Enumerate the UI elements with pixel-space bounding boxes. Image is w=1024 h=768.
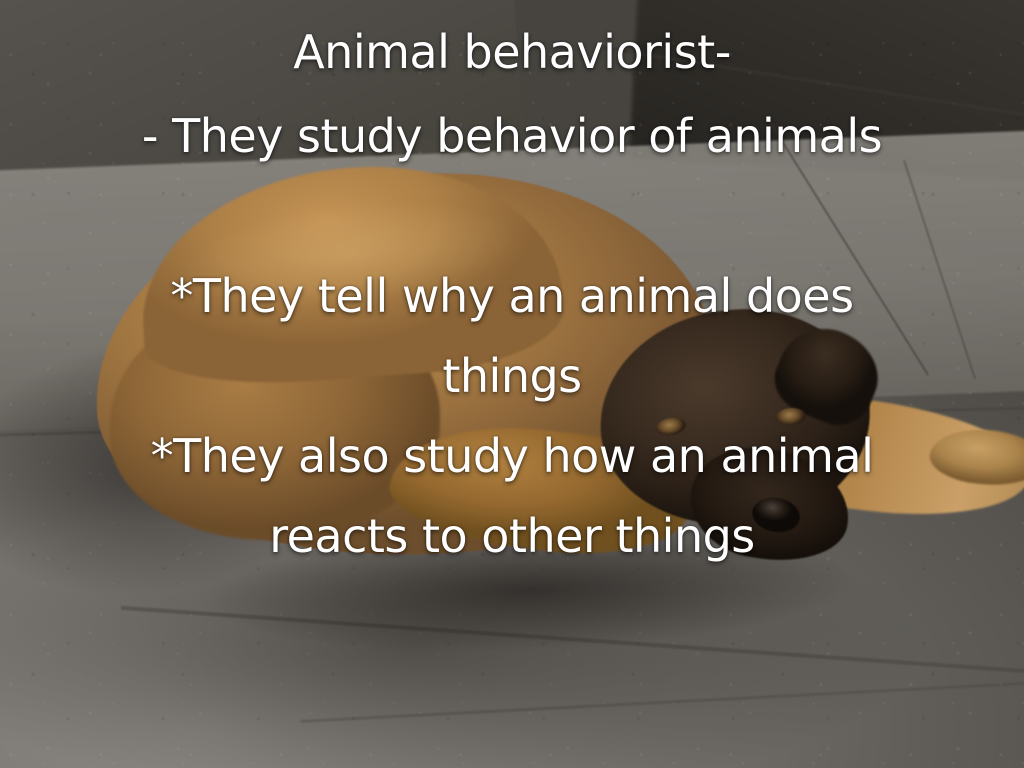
slide-text-overlay: Animal behaviorist- - They study behavio… [0, 0, 1024, 768]
slide-body-line-2: things [0, 352, 1024, 401]
slide-body-line-1: *They tell why an animal does [0, 272, 1024, 321]
slide-title: Animal behaviorist- [0, 28, 1024, 77]
slide-body-line-3: *They also study how an animal [0, 432, 1024, 481]
slide-subtitle: - They study behavior of animals [0, 112, 1024, 161]
presentation-slide: Animal behaviorist- - They study behavio… [0, 0, 1024, 768]
slide-body-line-4: reacts to other things [0, 512, 1024, 561]
